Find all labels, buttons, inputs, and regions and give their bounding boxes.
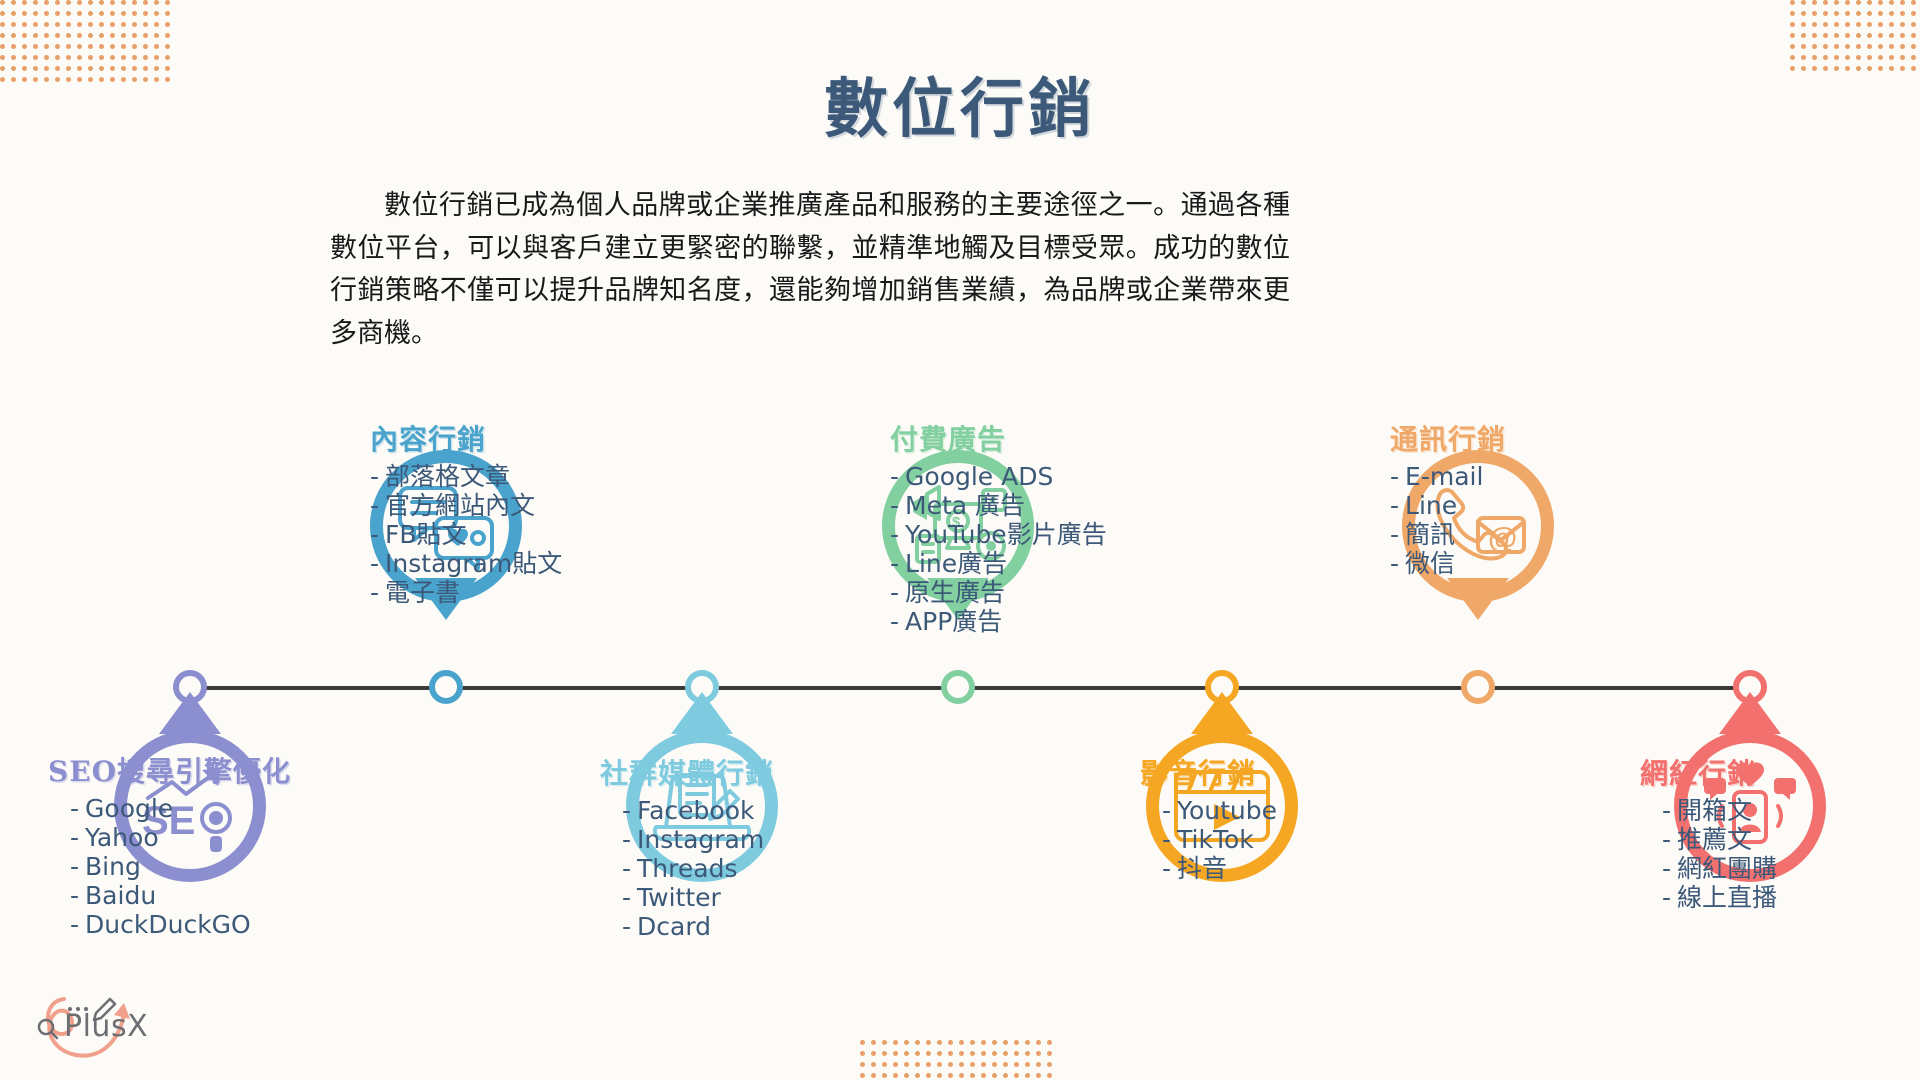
list-item: -網紅團購 bbox=[1662, 854, 1777, 883]
list-dash: - bbox=[622, 912, 631, 941]
node-list-seo: -Google-Yahoo-Bing-Baidu-DuckDuckGO bbox=[48, 794, 291, 939]
list-item: -Meta 廣告 bbox=[890, 491, 1107, 520]
list-item-label: DuckDuckGO bbox=[85, 910, 251, 939]
list-item: -電子書 bbox=[370, 578, 562, 607]
list-item: -Threads bbox=[622, 854, 774, 883]
list-item: -Instagram bbox=[622, 825, 774, 854]
list-dash: - bbox=[70, 823, 79, 852]
timeline-node-dot-messaging[interactable] bbox=[1461, 670, 1495, 704]
list-item-label: E-mail bbox=[1405, 462, 1483, 491]
node-block-messaging: 通訊行銷-E-mail-Line-簡訊-微信 bbox=[1390, 418, 1506, 578]
node-heading-ads: 付費廣告 bbox=[890, 418, 1107, 458]
list-item-label: 微信 bbox=[1405, 549, 1455, 578]
node-block-content: 內容行銷-部落格文章-官方網站內文-FB貼文-Instagram貼文-電子書 bbox=[370, 418, 562, 607]
list-item-label: TikTok bbox=[1177, 825, 1254, 854]
list-dash: - bbox=[890, 462, 899, 491]
list-dash: - bbox=[890, 520, 899, 549]
list-item: -FB貼文 bbox=[370, 520, 562, 549]
list-item-label: Twitter bbox=[637, 883, 721, 912]
list-item-label: 抖音 bbox=[1177, 854, 1227, 883]
list-dash: - bbox=[1162, 825, 1171, 854]
node-heading-seo: SEO搜尋引擎優化 bbox=[48, 750, 291, 790]
list-item: -原生廣告 bbox=[890, 578, 1107, 607]
node-heading-video: 影音行銷 bbox=[1140, 752, 1277, 792]
list-item: -Bing bbox=[70, 852, 291, 881]
list-item-label: 推薦文 bbox=[1677, 825, 1752, 854]
node-list-messaging: -E-mail-Line-簡訊-微信 bbox=[1390, 462, 1506, 578]
list-item: -Baidu bbox=[70, 881, 291, 910]
list-item: -Instagram貼文 bbox=[370, 549, 562, 578]
list-dash: - bbox=[622, 883, 631, 912]
logo-wordmark: PlusX bbox=[64, 1009, 148, 1044]
list-item: -YouTube影片廣告 bbox=[890, 520, 1107, 549]
pin-tail-social bbox=[671, 692, 733, 734]
list-item-label: 電子書 bbox=[385, 578, 460, 607]
node-list-influencer: -開箱文-推薦文-網紅團購-線上直播 bbox=[1640, 796, 1777, 912]
list-item-label: Threads bbox=[637, 854, 737, 883]
list-item-label: FB貼文 bbox=[385, 520, 467, 549]
node-list-social: -Facebook-Instagram-Threads-Twitter-Dcar… bbox=[600, 796, 774, 941]
list-item-label: Line廣告 bbox=[905, 549, 1007, 578]
list-item: -E-mail bbox=[1390, 462, 1506, 491]
list-item: -TikTok bbox=[1162, 825, 1277, 854]
list-dash: - bbox=[1662, 883, 1671, 912]
plusx-logo: PlusX bbox=[18, 985, 168, 1065]
list-item: -Youtube bbox=[1162, 796, 1277, 825]
list-dash: - bbox=[370, 549, 379, 578]
list-item-label: Meta 廣告 bbox=[905, 491, 1025, 520]
list-dash: - bbox=[890, 491, 899, 520]
list-item: -官方網站內文 bbox=[370, 491, 562, 520]
list-dash: - bbox=[1390, 520, 1399, 549]
list-item-label: 網紅團購 bbox=[1677, 854, 1777, 883]
list-dash: - bbox=[622, 854, 631, 883]
list-item: -Facebook bbox=[622, 796, 774, 825]
node-heading-messaging: 通訊行銷 bbox=[1390, 418, 1506, 458]
list-item: -Google ADS bbox=[890, 462, 1107, 491]
pin-tail-seo bbox=[159, 692, 221, 734]
node-list-video: -Youtube-TikTok-抖音 bbox=[1140, 796, 1277, 883]
pin-tail-video bbox=[1191, 692, 1253, 734]
list-dash: - bbox=[1662, 854, 1671, 883]
node-list-content: -部落格文章-官方網站內文-FB貼文-Instagram貼文-電子書 bbox=[370, 462, 562, 607]
list-item-label: Dcard bbox=[637, 912, 711, 941]
node-heading-content: 內容行銷 bbox=[370, 418, 562, 458]
pin-tail-influencer bbox=[1719, 692, 1781, 734]
list-item-label: 線上直播 bbox=[1677, 883, 1777, 912]
list-dash: - bbox=[370, 491, 379, 520]
list-dash: - bbox=[1390, 491, 1399, 520]
list-item: -Google bbox=[70, 794, 291, 823]
list-item: -DuckDuckGO bbox=[70, 910, 291, 939]
list-item-label: 原生廣告 bbox=[905, 578, 1005, 607]
list-item-label: Instagram bbox=[637, 825, 764, 854]
list-item-label: Google ADS bbox=[905, 462, 1053, 491]
list-dash: - bbox=[890, 607, 899, 636]
node-block-ads: 付費廣告-Google ADS-Meta 廣告-YouTube影片廣告-Line… bbox=[890, 418, 1107, 636]
list-item: -Line廣告 bbox=[890, 549, 1107, 578]
list-dash: - bbox=[1662, 796, 1671, 825]
list-item-label: Instagram貼文 bbox=[385, 549, 562, 578]
list-dash: - bbox=[1662, 825, 1671, 854]
timeline-node-dot-content[interactable] bbox=[429, 670, 463, 704]
node-heading-influencer: 網紅行銷 bbox=[1640, 752, 1777, 792]
list-item: -線上直播 bbox=[1662, 883, 1777, 912]
list-item-label: YouTube影片廣告 bbox=[905, 520, 1107, 549]
list-item: -抖音 bbox=[1162, 854, 1277, 883]
node-heading-social: 社群媒體行銷 bbox=[600, 752, 774, 792]
list-dash: - bbox=[70, 794, 79, 823]
list-item-label: Youtube bbox=[1177, 796, 1277, 825]
list-item: -開箱文 bbox=[1662, 796, 1777, 825]
node-block-influencer: 網紅行銷-開箱文-推薦文-網紅團購-線上直播 bbox=[1640, 752, 1777, 912]
list-item: -Dcard bbox=[622, 912, 774, 941]
list-item-label: Google bbox=[85, 794, 173, 823]
list-item: -推薦文 bbox=[1662, 825, 1777, 854]
list-dash: - bbox=[890, 578, 899, 607]
page-title: 數位行銷 bbox=[0, 58, 1920, 150]
timeline-node-dot-ads[interactable] bbox=[941, 670, 975, 704]
list-dash: - bbox=[70, 910, 79, 939]
list-dash: - bbox=[1390, 549, 1399, 578]
list-dash: - bbox=[370, 520, 379, 549]
list-dash: - bbox=[1162, 854, 1171, 883]
list-item: -簡訊 bbox=[1390, 520, 1506, 549]
list-item-label: 部落格文章 bbox=[385, 462, 510, 491]
list-dash: - bbox=[70, 881, 79, 910]
list-dash: - bbox=[890, 549, 899, 578]
list-dash: - bbox=[622, 825, 631, 854]
list-item: -部落格文章 bbox=[370, 462, 562, 491]
list-item: -Twitter bbox=[622, 883, 774, 912]
list-item-label: 官方網站內文 bbox=[385, 491, 535, 520]
list-item-label: Yahoo bbox=[85, 823, 159, 852]
list-item-label: 簡訊 bbox=[1405, 520, 1455, 549]
list-dash: - bbox=[622, 796, 631, 825]
list-dash: - bbox=[370, 462, 379, 491]
list-item-label: Baidu bbox=[85, 881, 156, 910]
node-block-video: 影音行銷-Youtube-TikTok-抖音 bbox=[1140, 752, 1277, 883]
list-item: -Yahoo bbox=[70, 823, 291, 852]
list-dash: - bbox=[70, 852, 79, 881]
list-item: -微信 bbox=[1390, 549, 1506, 578]
list-item-label: Facebook bbox=[637, 796, 754, 825]
intro-paragraph: 數位行銷已成為個人品牌或企業推廣產品和服務的主要途徑之一。通過各種數位平台，可以… bbox=[330, 185, 1290, 356]
list-item-label: Line bbox=[1405, 491, 1457, 520]
list-item-label: APP廣告 bbox=[905, 607, 1002, 636]
node-block-seo: SEO搜尋引擎優化-Google-Yahoo-Bing-Baidu-DuckDu… bbox=[48, 750, 291, 939]
list-item: -Line bbox=[1390, 491, 1506, 520]
list-dash: - bbox=[1390, 462, 1399, 491]
list-dash: - bbox=[370, 578, 379, 607]
list-dash: - bbox=[1162, 796, 1171, 825]
list-item-label: 開箱文 bbox=[1677, 796, 1752, 825]
node-list-ads: -Google ADS-Meta 廣告-YouTube影片廣告-Line廣告-原… bbox=[890, 462, 1107, 636]
list-item-label: Bing bbox=[85, 852, 141, 881]
node-block-social: 社群媒體行銷-Facebook-Instagram-Threads-Twitte… bbox=[600, 752, 774, 941]
infographic-canvas: 數位行銷 數位行銷已成為個人品牌或企業推廣產品和服務的主要途徑之一。通過各種數位… bbox=[0, 0, 1920, 1080]
list-item: -APP廣告 bbox=[890, 607, 1107, 636]
